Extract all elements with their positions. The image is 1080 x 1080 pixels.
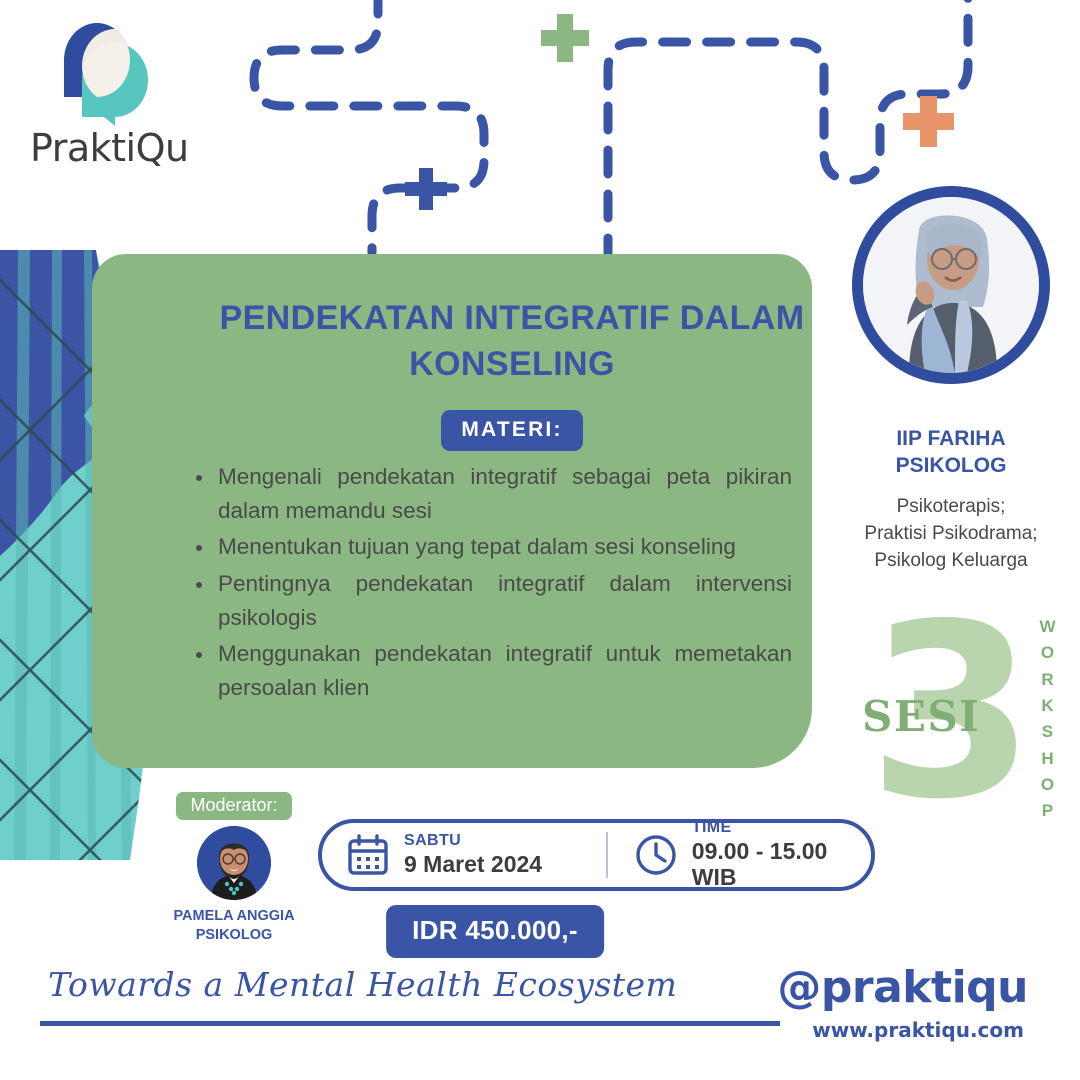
title-block: PENDEKATAN INTEGRATIF DALAM KONSELING MA… bbox=[212, 296, 812, 451]
speaker-card: IIP FARIHA PSIKOLOG Psikoterapis; Prakti… bbox=[838, 186, 1064, 575]
moderator-label: Moderator: bbox=[176, 792, 291, 820]
time-label: TIME bbox=[692, 819, 871, 837]
moderator-portrait-illustration bbox=[197, 826, 271, 900]
speaker-name: IIP FARIHA PSIKOLOG bbox=[838, 426, 1064, 480]
list-item: Menentukan tujuan yang tepat dalam sesi … bbox=[192, 530, 792, 564]
time-value: 09.00 - 15.00 WIB bbox=[692, 839, 871, 891]
tagline: Towards a Mental Health Ecosystem bbox=[48, 965, 677, 1004]
topic-list: Mengenali pendekatan integratif sebagai … bbox=[192, 460, 792, 707]
materi-badge: MATERI: bbox=[441, 410, 582, 451]
website-url[interactable]: www.praktiqu.com bbox=[812, 1018, 1024, 1042]
speaker-portrait-illustration bbox=[863, 197, 1039, 373]
date-cell: SABTU 9 Maret 2024 bbox=[322, 832, 606, 878]
date-value: 9 Maret 2024 bbox=[404, 852, 542, 878]
workshop-letter: O bbox=[1039, 772, 1056, 798]
list-item: Menggunakan pendekatan integratif untuk … bbox=[192, 637, 792, 705]
time-texts: TIME 09.00 - 15.00 WIB bbox=[692, 819, 871, 890]
workshop-letter: S bbox=[1039, 719, 1056, 745]
session-badge: 3 SESI W O R K S H O P bbox=[858, 606, 1058, 836]
workshop-letter: K bbox=[1039, 693, 1056, 719]
workshop-letter: P bbox=[1039, 798, 1056, 824]
plus-orange-icon bbox=[903, 96, 954, 147]
avatar bbox=[197, 826, 271, 900]
social-handle[interactable]: @praktiqu bbox=[777, 962, 1028, 1013]
main-content-card: PENDEKATAN INTEGRATIF DALAM KONSELING MA… bbox=[92, 254, 812, 768]
schedule-pill: SABTU 9 Maret 2024 TIME 09.00 - 15.00 WI… bbox=[318, 819, 875, 891]
time-cell: TIME 09.00 - 15.00 WIB bbox=[608, 819, 871, 890]
poster-canvas: PraktiQu bbox=[0, 0, 1080, 1080]
day-label: SABTU bbox=[404, 832, 542, 850]
plus-marks bbox=[405, 14, 954, 210]
page-title: PENDEKATAN INTEGRATIF DALAM KONSELING bbox=[212, 296, 812, 388]
clock-icon bbox=[634, 833, 678, 877]
session-word: SESI bbox=[862, 692, 980, 741]
brand-logo[interactable]: PraktiQu bbox=[18, 16, 228, 176]
plus-blue-icon bbox=[405, 168, 447, 210]
workshop-letter: O bbox=[1039, 640, 1056, 666]
workshop-letter: H bbox=[1039, 746, 1056, 772]
speaker-roles: Psikoterapis; Praktisi Psikodrama; Psiko… bbox=[838, 494, 1064, 575]
plus-green-icon bbox=[541, 14, 589, 62]
footer-divider bbox=[40, 1021, 780, 1026]
workshop-letter: R bbox=[1039, 667, 1056, 693]
calendar-icon bbox=[346, 833, 390, 877]
moderator-card: Moderator: bbox=[160, 792, 308, 945]
workshop-vertical-label: W O R K S H O P bbox=[1039, 614, 1056, 825]
brand-logo-text: PraktiQu bbox=[30, 126, 189, 170]
workshop-letter: W bbox=[1039, 614, 1056, 640]
list-item: Pentingnya pendekatan integratif dalam i… bbox=[192, 567, 792, 635]
moderator-name: PAMELA ANGGIA PSIKOLOG bbox=[160, 907, 308, 945]
date-texts: SABTU 9 Maret 2024 bbox=[404, 832, 542, 878]
avatar bbox=[863, 197, 1039, 373]
speech-bubbles-icon bbox=[36, 16, 176, 126]
speaker-photo-ring bbox=[852, 186, 1050, 384]
price-badge: IDR 450.000,- bbox=[386, 905, 604, 958]
list-item: Mengenali pendekatan integratif sebagai … bbox=[192, 460, 792, 528]
